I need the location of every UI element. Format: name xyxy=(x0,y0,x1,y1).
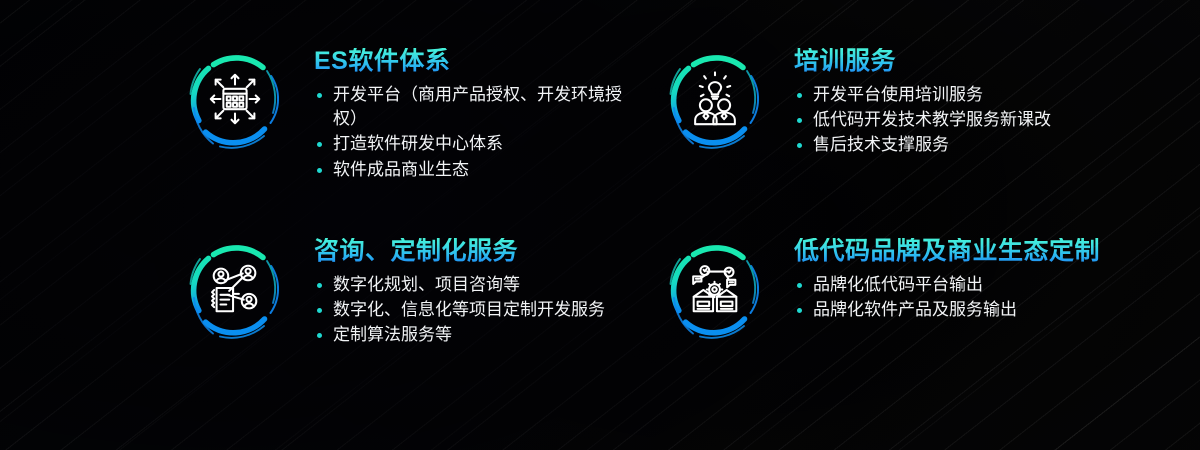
feature-card-es-software-system[interactable]: ES软件体系 开发平台（商用产品授权、开发环境授权） 打造软件研发中心体系 软件… xyxy=(172,34,652,224)
list-item: 开发平台（商用产品授权、开发环境授权） xyxy=(314,83,633,132)
feature-card-training-service[interactable]: 培训服务 开发平台使用培训服务 低代码开发技术教学服务新课改 售后技术支撑服务 xyxy=(652,34,1200,224)
card-body: 培训服务 开发平台使用培训服务 低代码开发技术教学服务新课改 售后技术支撑服务 xyxy=(794,34,1051,159)
list-item: 低代码开发技术教学服务新课改 xyxy=(794,108,1051,132)
list-item: 软件成品商业生态 xyxy=(314,158,633,182)
card-bullet-list: 开发平台（商用产品授权、开发环境授权） 打造软件研发中心体系 软件成品商业生态 xyxy=(314,83,633,183)
list-item: 售后技术支撑服务 xyxy=(794,133,1051,157)
card-title: 培训服务 xyxy=(794,48,1051,76)
list-item: 品牌化低代码平台输出 xyxy=(794,273,1100,297)
slide-canvas: ES软件体系 开发平台（商用产品授权、开发环境授权） 打造软件研发中心体系 软件… xyxy=(0,0,1200,450)
factory-gear-network-icon xyxy=(652,226,778,352)
card-title: ES软件体系 xyxy=(314,48,633,76)
list-item: 数字化规划、项目咨询等 xyxy=(314,273,605,297)
list-item: 品牌化软件产品及服务输出 xyxy=(794,298,1100,322)
card-body: ES软件体系 开发平台（商用产品授权、开发环境授权） 打造软件研发中心体系 软件… xyxy=(314,34,633,183)
qr-grid-expand-icon xyxy=(172,36,298,162)
lightbulb-team-icon xyxy=(652,36,778,162)
list-item: 定制算法服务等 xyxy=(314,323,605,347)
list-item: 开发平台使用培训服务 xyxy=(794,83,1051,107)
card-bullet-list: 数字化规划、项目咨询等 数字化、信息化等项目定制开发服务 定制算法服务等 xyxy=(314,273,605,348)
list-item: 打造软件研发中心体系 xyxy=(314,132,633,156)
card-body: 低代码品牌及商业生态定制 品牌化低代码平台输出 品牌化软件产品及服务输出 xyxy=(794,224,1100,323)
feature-card-lowcode-brand-ecosystem[interactable]: 低代码品牌及商业生态定制 品牌化低代码平台输出 品牌化软件产品及服务输出 xyxy=(652,224,1200,414)
icon-ring-es-software-system xyxy=(172,36,298,162)
card-body: 咨询、定制化服务 数字化规划、项目咨询等 数字化、信息化等项目定制开发服务 定制… xyxy=(314,224,605,349)
icon-ring-consulting-customization xyxy=(172,226,298,352)
card-bullet-list: 开发平台使用培训服务 低代码开发技术教学服务新课改 售后技术支撑服务 xyxy=(794,83,1051,158)
feature-card-consulting-customization[interactable]: 咨询、定制化服务 数字化规划、项目咨询等 数字化、信息化等项目定制开发服务 定制… xyxy=(172,224,652,414)
card-title: 咨询、定制化服务 xyxy=(314,238,605,266)
document-network-people-icon xyxy=(172,226,298,352)
card-title: 低代码品牌及商业生态定制 xyxy=(794,238,1100,266)
list-item: 数字化、信息化等项目定制开发服务 xyxy=(314,298,605,322)
feature-card-grid: ES软件体系 开发平台（商用产品授权、开发环境授权） 打造软件研发中心体系 软件… xyxy=(0,0,1200,450)
icon-ring-training-service xyxy=(652,36,778,162)
card-bullet-list: 品牌化低代码平台输出 品牌化软件产品及服务输出 xyxy=(794,273,1100,323)
icon-ring-lowcode-brand-ecosystem xyxy=(652,226,778,352)
